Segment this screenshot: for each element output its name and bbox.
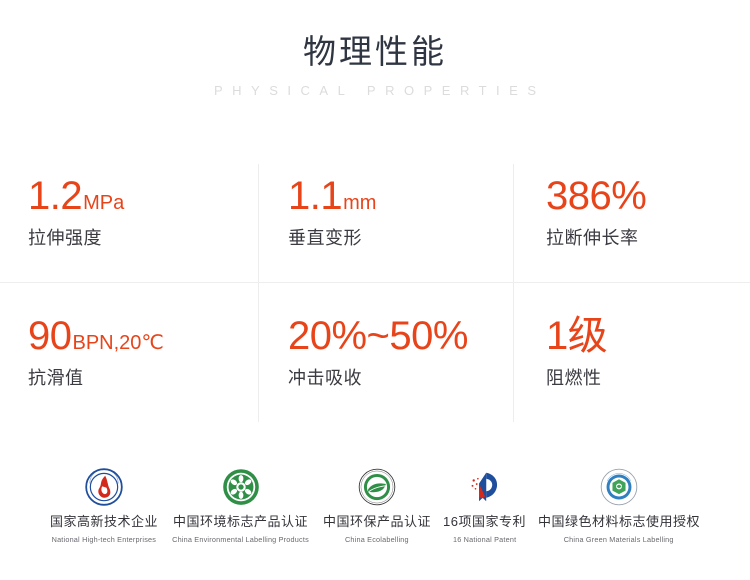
specs-row-1: 1.2 MPa 拉伸强度 1.1 mm 垂直变形 386% 拉断伸长率: [0, 142, 750, 282]
certification-name-cn: 中国环保产品认证: [323, 514, 431, 530]
spec-cell-tensile-strength: 1.2 MPa 拉伸强度: [0, 142, 250, 282]
physical-properties-page: 物理性能 PHYSICAL PROPERTIES 1.2 MPa 拉伸强度 1.…: [0, 0, 750, 580]
spec-number: 20%~50%: [288, 316, 468, 356]
spec-label: 阻燃性: [546, 369, 750, 389]
spec-cell-slip-resistance: 90 BPN,20℃ 抗滑值: [0, 282, 250, 422]
spec-unit: MPa: [83, 193, 124, 213]
high-tech-enterprise-flame-icon: [85, 468, 123, 506]
spec-unit: BPN,20℃: [73, 333, 164, 353]
page-title: 物理性能: [0, 30, 750, 74]
certification-name-cn: 中国绿色材料标志使用授权: [538, 514, 700, 530]
spec-unit: mm: [343, 193, 376, 213]
certification-name-cn: 中国环境标志产品认证: [173, 514, 308, 530]
spec-value: 1.1 mm: [288, 176, 500, 216]
spec-label: 拉断伸长率: [546, 229, 750, 249]
page-subtitle: PHYSICAL PROPERTIES: [0, 83, 750, 98]
certification-item: 中国绿色材料标志使用授权 China Green Materials Label…: [532, 468, 706, 544]
certification-name-en: 16 National Patent: [453, 535, 516, 544]
spec-value: 20%~50%: [288, 316, 500, 356]
certification-bar: 国家高新技术企业 National High-tech Enterprises: [0, 468, 750, 563]
spec-number: 1级: [546, 316, 607, 356]
spec-cell-flame-retardancy: 1级 阻燃性: [500, 282, 750, 422]
specs-row-2: 90 BPN,20℃ 抗滑值 20%~50% 冲击吸收 1级 阻燃性: [0, 282, 750, 422]
certification-name-cn: 16项国家专利: [443, 514, 526, 530]
grid-divider-vertical-right: [513, 164, 514, 422]
national-patent-icon: [466, 468, 504, 506]
spec-label: 垂直变形: [288, 229, 500, 249]
specs-grid: 1.2 MPa 拉伸强度 1.1 mm 垂直变形 386% 拉断伸长率: [0, 142, 750, 422]
grid-divider-horizontal: [0, 282, 750, 283]
china-ecolabel-icon: [358, 468, 396, 506]
certification-name-en: China Environmental Labelling Products: [172, 535, 309, 544]
spec-label: 冲击吸收: [288, 369, 500, 389]
green-materials-label-icon: [600, 468, 638, 506]
certification-name-en: China Green Materials Labelling: [564, 535, 674, 544]
certification-name-cn: 国家高新技术企业: [50, 514, 158, 530]
spec-number: 386%: [546, 176, 646, 216]
grid-divider-vertical-left: [258, 164, 259, 422]
spec-label: 拉伸强度: [28, 229, 250, 249]
spec-value: 1.2 MPa: [28, 176, 250, 216]
spec-number: 90: [28, 316, 72, 356]
spec-value: 386%: [546, 176, 750, 216]
china-environmental-label-icon: [222, 468, 260, 506]
spec-cell-impact-absorption: 20%~50% 冲击吸收: [250, 282, 500, 422]
spec-value: 1级: [546, 316, 750, 356]
spec-value: 90 BPN,20℃: [28, 316, 250, 356]
spec-cell-vertical-deformation: 1.1 mm 垂直变形: [250, 142, 500, 282]
spec-number: 1.2: [28, 176, 82, 216]
spec-cell-elongation-at-break: 386% 拉断伸长率: [500, 142, 750, 282]
certification-name-en: China Ecolabelling: [345, 535, 409, 544]
page-header: 物理性能 PHYSICAL PROPERTIES: [0, 0, 750, 98]
certification-item: 中国环境标志产品认证 China Environmental Labelling…: [164, 468, 317, 544]
spec-number: 1.1: [288, 176, 342, 216]
certification-item: 国家高新技术企业 National High-tech Enterprises: [44, 468, 164, 544]
spec-label: 抗滑值: [28, 369, 250, 389]
certification-name-en: National High-tech Enterprises: [52, 535, 156, 544]
certification-item: 16项国家专利 16 National Patent: [437, 468, 532, 544]
certification-item: 中国环保产品认证 China Ecolabelling: [317, 468, 437, 544]
